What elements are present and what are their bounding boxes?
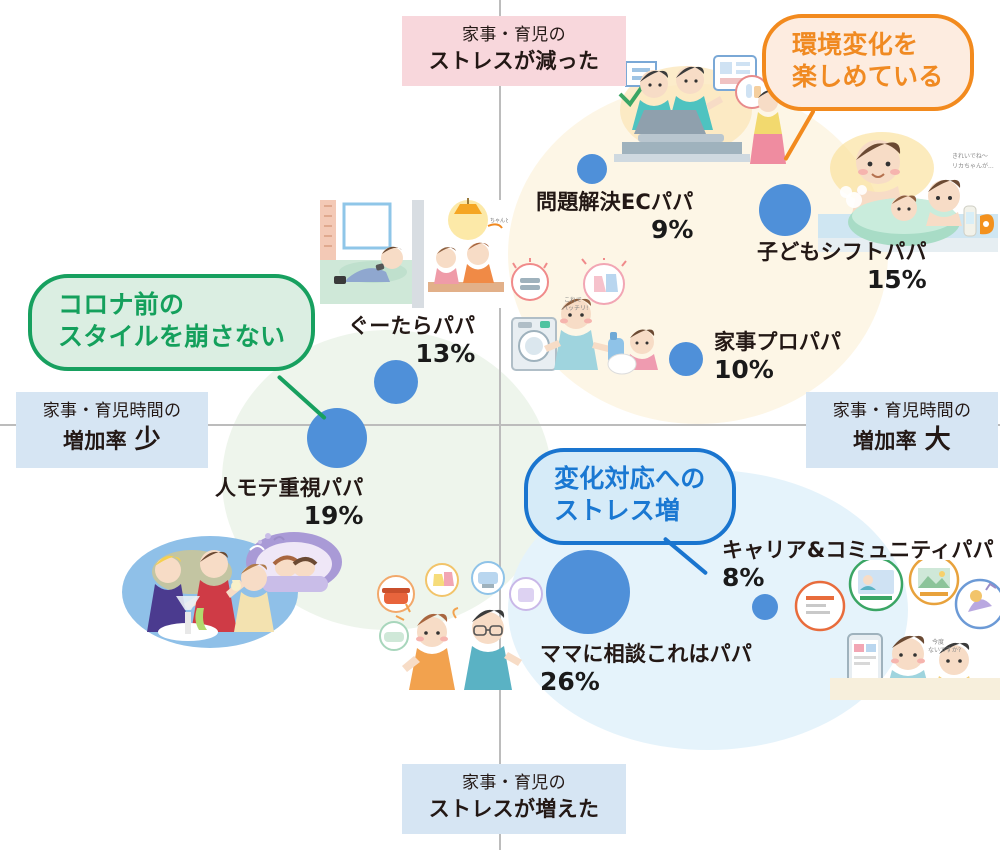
callout-blue-line2: ストレス増: [554, 495, 706, 527]
label-mama: ママに相談これはパパ 26%: [540, 642, 752, 696]
kodomo-illustration: きれいでね〜 リカちゃんが...: [818, 128, 998, 258]
callout-blue: 変化対応への ストレス増: [524, 448, 736, 545]
label-kodomo-name: 子どもシフトパパ: [757, 240, 927, 265]
label-kaji-value: 10%: [714, 355, 841, 385]
label-himote: 人モテ重視パパ 19%: [215, 476, 363, 530]
axis-label-bottom-line2: ストレスが増えた: [416, 796, 612, 822]
axis-label-left-emphasis: 少: [135, 425, 161, 455]
svg-text:ないですか?: ないですか?: [928, 647, 961, 654]
label-kodomo: 子どもシフトパパ 15%: [757, 240, 927, 294]
label-ec: 問題解決ECパパ 9%: [536, 190, 693, 244]
callout-orange-line2: 楽しめている: [792, 61, 944, 93]
axis-label-top-line1: 家事・育児の: [416, 25, 612, 46]
axis-label-right-line1: 家事・育児時間の: [820, 401, 984, 422]
callout-green-line1: コロナ前の: [58, 289, 285, 321]
svg-text:きれいでね〜: きれいでね〜: [952, 153, 988, 160]
label-kaji: 家事プロパパ 10%: [714, 330, 841, 384]
label-ec-name: 問題解決ECパパ: [536, 190, 693, 215]
axis-label-left-line2: 増加率: [63, 429, 127, 453]
label-kodomo-value: 15%: [757, 265, 927, 295]
bubble-kodomo[interactable]: [759, 184, 811, 236]
kaji-illustration: これで バッチリ!: [508, 258, 688, 378]
label-himote-value: 19%: [215, 501, 363, 531]
callout-green-line2: スタイルを崩さない: [58, 321, 285, 353]
bubble-career[interactable]: [752, 594, 778, 620]
axis-label-left-line1: 家事・育児時間の: [30, 401, 194, 422]
label-ec-value: 9%: [536, 215, 693, 245]
svg-text:バッチリ!: バッチリ!: [562, 305, 588, 312]
callout-green-body: コロナ前の スタイルを崩さない: [28, 274, 315, 371]
label-mama-name: ママに相談これはパパ: [540, 642, 752, 667]
axis-label-top-line2: ストレスが減った: [416, 48, 612, 74]
callout-orange-line1: 環境変化を: [792, 29, 944, 61]
svg-text:今度: 今度: [932, 638, 944, 646]
label-kaji-name: 家事プロパパ: [714, 330, 841, 355]
axis-label-right-line2: 増加率: [853, 429, 917, 453]
callout-orange: 環境変化を 楽しめている: [762, 14, 974, 111]
label-gutara-value: 13%: [348, 339, 475, 369]
callout-blue-line1: 変化対応への: [554, 463, 706, 495]
label-gutara-name: ぐーたらパパ: [348, 314, 475, 339]
svg-text:ちゃんと: ちゃんと: [490, 218, 508, 224]
himote-illustration: [122, 520, 342, 650]
svg-text:これで: これで: [564, 297, 582, 304]
label-gutara: ぐーたらパパ 13%: [348, 314, 475, 368]
axis-label-right-emphasis: 大: [925, 425, 951, 455]
bubble-kaji[interactable]: [669, 342, 703, 376]
axis-label-top: 家事・育児の ストレスが減った: [402, 16, 626, 86]
gutara-illustration: ちゃんと: [318, 196, 508, 316]
bubble-ec[interactable]: [577, 154, 607, 184]
axis-label-left: 家事・育児時間の 増加率 少: [16, 392, 208, 468]
axis-label-bottom: 家事・育児の ストレスが増えた: [402, 764, 626, 834]
quadrant-chart: ちゃんと: [0, 0, 1000, 850]
label-career-name: キャリア&コミュニティパパ: [722, 538, 994, 563]
callout-blue-body: 変化対応への ストレス増: [524, 448, 736, 545]
callout-green: コロナ前の スタイルを崩さない: [28, 274, 315, 371]
bubble-himote[interactable]: [307, 408, 367, 468]
label-career-value: 8%: [722, 563, 994, 593]
label-career: キャリア&コミュニティパパ 8%: [722, 538, 994, 592]
mama-illustration: [370, 560, 550, 690]
label-mama-value: 26%: [540, 667, 752, 697]
label-himote-name: 人モテ重視パパ: [215, 476, 363, 501]
axis-label-bottom-line1: 家事・育児の: [416, 773, 612, 794]
callout-orange-body: 環境変化を 楽しめている: [762, 14, 974, 111]
svg-text:リカちゃんが...: リカちゃんが...: [952, 162, 994, 170]
bubble-mama[interactable]: [546, 550, 630, 634]
axis-label-right: 家事・育児時間の 増加率 大: [806, 392, 998, 468]
